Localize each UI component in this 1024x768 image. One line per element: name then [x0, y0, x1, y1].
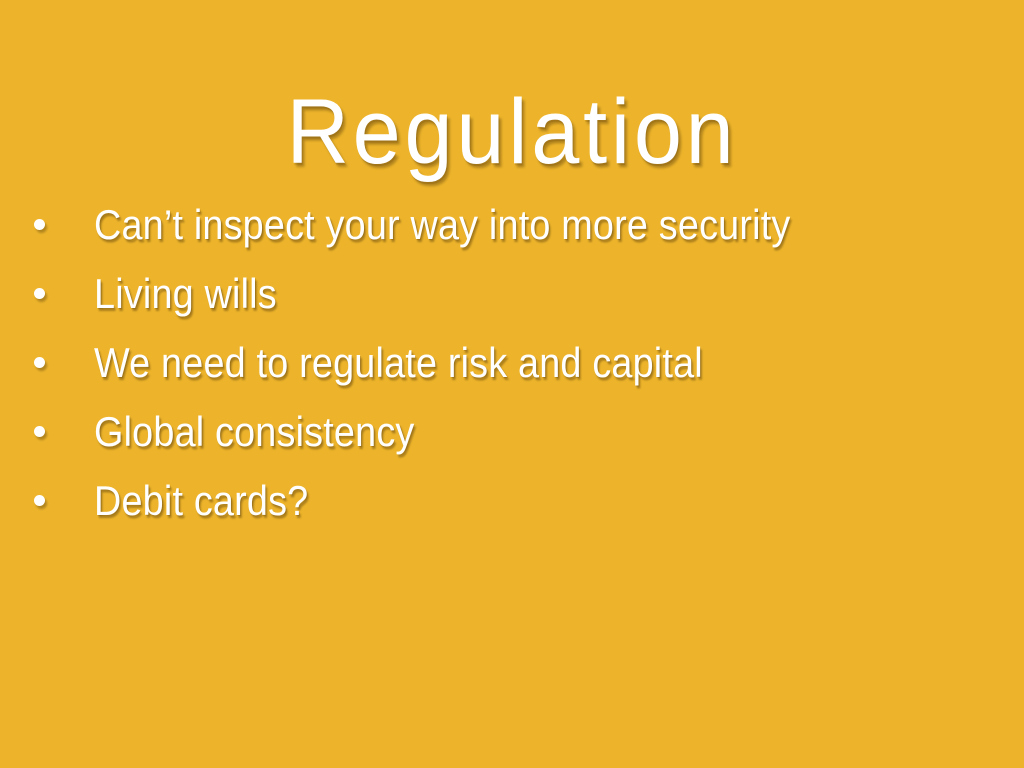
slide-title: Regulation — [31, 84, 994, 181]
list-item-label: Debit cards? — [94, 480, 308, 522]
bullet-dot-icon — [34, 495, 45, 506]
list-item: Global consistency — [24, 397, 1000, 466]
bullet-dot-icon — [34, 357, 45, 368]
list-item: Debit cards? — [24, 466, 1000, 535]
list-item-label: Can’t inspect your way into more securit… — [94, 204, 790, 246]
bullet-list: Can’t inspect your way into more securit… — [24, 190, 1000, 535]
list-item: Living wills — [24, 259, 1000, 328]
list-item-label: We need to regulate risk and capital — [94, 342, 703, 384]
presentation-slide: Regulation Can’t inspect your way into m… — [0, 0, 1024, 768]
bullet-dot-icon — [34, 219, 45, 230]
bullet-dot-icon — [34, 288, 45, 299]
list-item-label: Living wills — [94, 273, 277, 315]
list-item: We need to regulate risk and capital — [24, 328, 1000, 397]
list-item: Can’t inspect your way into more securit… — [24, 190, 1000, 259]
bullet-dot-icon — [34, 426, 45, 437]
list-item-label: Global consistency — [94, 411, 414, 453]
